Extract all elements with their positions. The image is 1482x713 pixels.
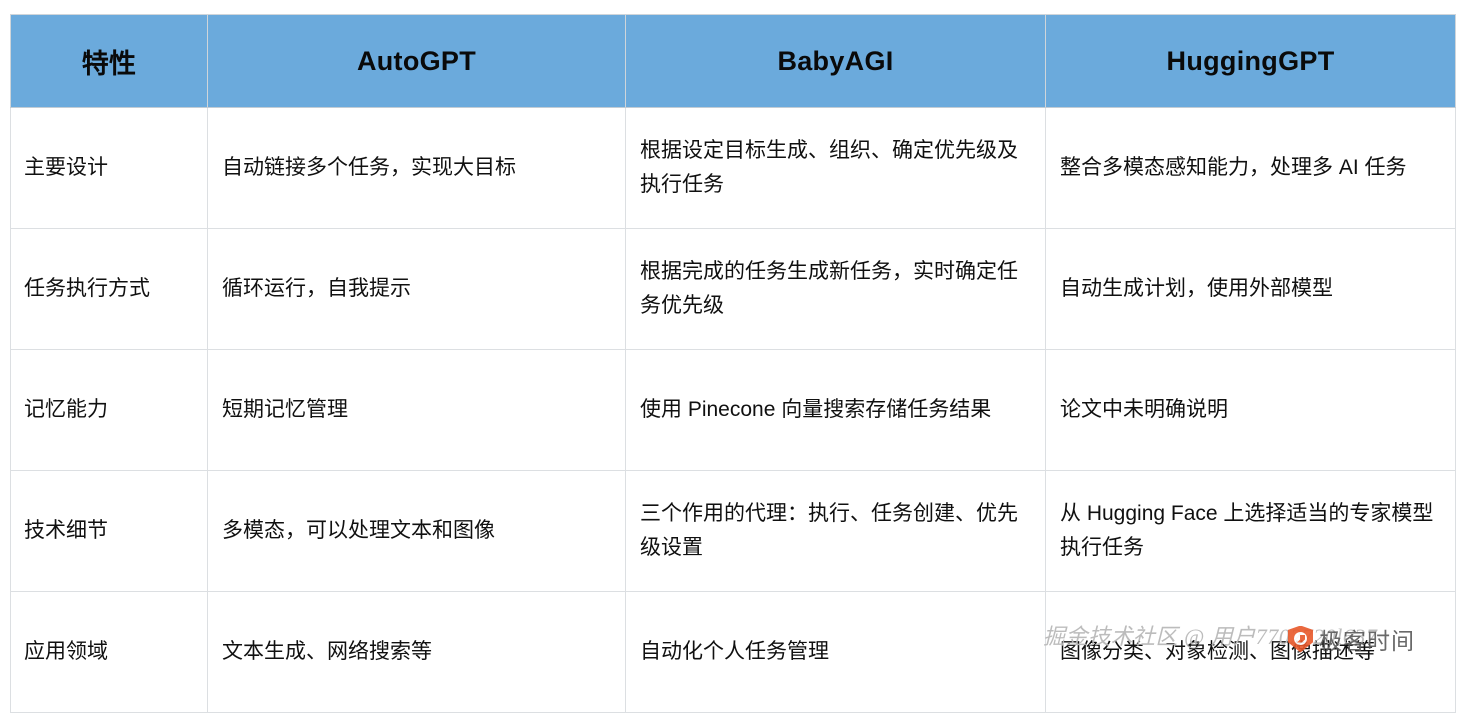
cell-babyagi-task-execution: 根据完成的任务生成新任务，实时确定任务优先级	[626, 229, 1046, 350]
cell-hugginggpt-memory: 论文中未明确说明	[1046, 350, 1456, 471]
row-label-main-design: 主要设计	[11, 108, 208, 229]
table-row: 记忆能力 短期记忆管理 使用 Pinecone 向量搜索存储任务结果 论文中未明…	[11, 350, 1456, 471]
table-header: 特性 AutoGPT BabyAGI HuggingGPT	[11, 15, 1456, 108]
cell-babyagi-memory: 使用 Pinecone 向量搜索存储任务结果	[626, 350, 1046, 471]
column-header-babyagi: BabyAGI	[626, 15, 1046, 108]
cell-babyagi-main-design: 根据设定目标生成、组织、确定优先级及执行任务	[626, 108, 1046, 229]
table-row: 主要设计 自动链接多个任务，实现大目标 根据设定目标生成、组织、确定优先级及执行…	[11, 108, 1456, 229]
table-row: 任务执行方式 循环运行，自我提示 根据完成的任务生成新任务，实时确定任务优先级 …	[11, 229, 1456, 350]
cell-hugginggpt-technical-details: 从 Hugging Face 上选择适当的专家模型执行任务	[1046, 471, 1456, 592]
jike-shield-icon	[1288, 626, 1313, 653]
column-header-hugginggpt: HuggingGPT	[1046, 15, 1456, 108]
cell-autogpt-main-design: 自动链接多个任务，实现大目标	[208, 108, 626, 229]
column-header-feature: 特性	[11, 15, 208, 108]
cell-autogpt-memory: 短期记忆管理	[208, 350, 626, 471]
comparison-table-container: 特性 AutoGPT BabyAGI HuggingGPT 主要设计 自动链接多…	[10, 14, 1455, 612]
cell-hugginggpt-main-design: 整合多模态感知能力，处理多 AI 任务	[1046, 108, 1456, 229]
page-canvas: 特性 AutoGPT BabyAGI HuggingGPT 主要设计 自动链接多…	[0, 0, 1482, 666]
cell-babyagi-application-domain: 自动化个人任务管理	[626, 592, 1046, 713]
cell-babyagi-technical-details: 三个作用的代理：执行、任务创建、优先级设置	[626, 471, 1046, 592]
cell-autogpt-application-domain: 文本生成、网络搜索等	[208, 592, 626, 713]
comparison-table: 特性 AutoGPT BabyAGI HuggingGPT 主要设计 自动链接多…	[10, 14, 1456, 713]
row-label-application-domain: 应用领域	[11, 592, 208, 713]
column-header-autogpt: AutoGPT	[208, 15, 626, 108]
row-label-memory: 记忆能力	[11, 350, 208, 471]
table-row: 技术细节 多模态，可以处理文本和图像 三个作用的代理：执行、任务创建、优先级设置…	[11, 471, 1456, 592]
row-label-task-execution: 任务执行方式	[11, 229, 208, 350]
row-label-technical-details: 技术细节	[11, 471, 208, 592]
cell-hugginggpt-task-execution: 自动生成计划，使用外部模型	[1046, 229, 1456, 350]
table-row: 应用领域 文本生成、网络搜索等 自动化个人任务管理 图像分类、对象检测、图像描述…	[11, 592, 1456, 713]
watermark-jike-label: 极客时间	[1319, 622, 1415, 656]
cell-autogpt-technical-details: 多模态，可以处理文本和图像	[208, 471, 626, 592]
table-header-row: 特性 AutoGPT BabyAGI HuggingGPT	[11, 15, 1456, 108]
watermark-jike: 极客时间	[1288, 622, 1415, 656]
cell-autogpt-task-execution: 循环运行，自我提示	[208, 229, 626, 350]
